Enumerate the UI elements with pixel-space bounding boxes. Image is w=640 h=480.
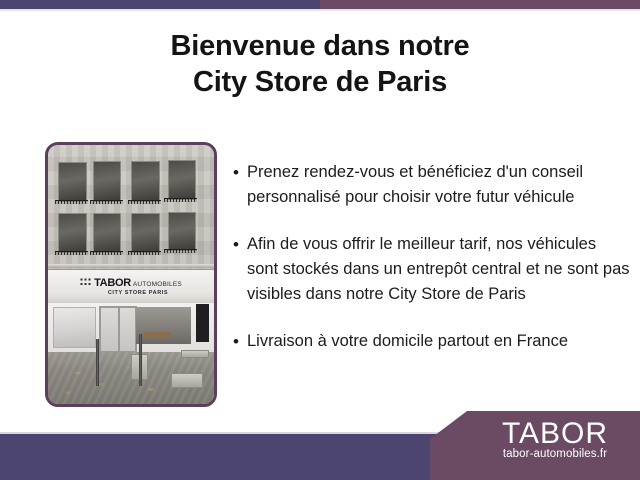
storefront-level <box>48 303 214 352</box>
shop-sign-row-1: TABOR AUTOMOBILES <box>80 278 182 289</box>
list-item: • Afin de vous offrir le meilleur tarif,… <box>233 232 631 307</box>
bollard <box>139 334 142 386</box>
pavement <box>48 352 214 404</box>
balcony-rail <box>55 251 88 255</box>
window <box>131 161 160 202</box>
window <box>58 213 87 252</box>
balcony-rail <box>164 198 197 202</box>
shop-interior <box>136 307 191 344</box>
door-split <box>118 308 120 351</box>
bollard <box>96 339 99 386</box>
bullet-marker-icon: • <box>233 160 247 185</box>
building-facade <box>48 145 214 269</box>
top-accent-bar <box>0 0 640 9</box>
balcony-rail <box>128 200 161 204</box>
interior-desk <box>144 332 171 338</box>
title-line-2: City Store de Paris <box>0 64 640 100</box>
window <box>131 213 160 252</box>
slide: Bienvenue dans notre City Store de Paris <box>0 0 640 480</box>
dot-matrix-icon <box>80 278 91 286</box>
side-panel <box>196 304 209 342</box>
shop-door <box>99 306 136 353</box>
shop-sign-subtitle: AUTOMOBILES <box>133 282 182 289</box>
list-item-text: Livraison à votre domicile partout en Fr… <box>247 329 631 354</box>
bullet-marker-icon: • <box>233 329 247 354</box>
balcony-rail <box>128 251 161 255</box>
bullet-marker-icon: • <box>233 232 247 257</box>
window <box>168 160 197 201</box>
window <box>93 213 122 252</box>
balcony-rail <box>90 200 123 204</box>
balcony-rail <box>164 249 197 253</box>
page-title: Bienvenue dans notre City Store de Paris <box>0 28 640 100</box>
brand-logo: TABOR tabor-automobiles.fr <box>480 418 630 461</box>
top-accent-bar-left <box>0 0 320 9</box>
window <box>58 162 87 201</box>
list-item: • Livraison à votre domicile partout en … <box>233 329 631 354</box>
facade-ledge <box>48 264 214 268</box>
balcony-rail <box>90 251 123 255</box>
bullet-list: • Prenez rendez-vous et bénéficiez d'un … <box>233 160 631 354</box>
curb-stone <box>171 373 203 388</box>
top-hairline <box>0 9 640 11</box>
shop-sign-row-2: CITY STORE PARIS <box>108 290 168 296</box>
title-line-1: Bienvenue dans notre <box>0 28 640 64</box>
list-item-text: Prenez rendez-vous et bénéficiez d'un co… <box>247 160 631 210</box>
list-item: • Prenez rendez-vous et bénéficiez d'un … <box>233 160 631 210</box>
window <box>168 212 197 251</box>
window <box>93 161 122 202</box>
shop-sign-brand: TABOR <box>94 278 131 289</box>
brand-logo-word: TABOR <box>480 418 630 450</box>
photo-content: TABOR AUTOMOBILES CITY STORE PARIS <box>48 145 214 404</box>
curb-stone <box>181 350 210 358</box>
shop-sign: TABOR AUTOMOBILES CITY STORE PARIS <box>48 269 214 305</box>
storefront-photo: TABOR AUTOMOBILES CITY STORE PARIS <box>45 142 217 407</box>
list-item-text: Afin de vous offrir le meilleur tarif, n… <box>247 232 631 307</box>
shop-window-left <box>53 307 97 348</box>
top-accent-bar-right <box>320 0 640 9</box>
balcony-rail <box>55 200 88 204</box>
